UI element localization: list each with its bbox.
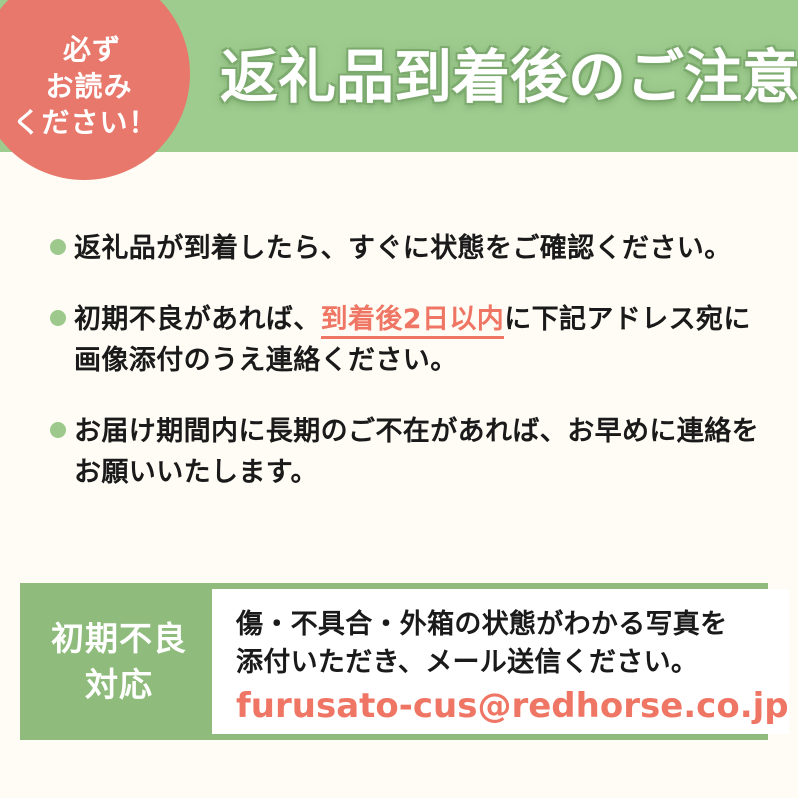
notice-segment: お届け期間内に長期のご不在があれば、お早めに連絡をお願いいたします。 [74, 416, 759, 488]
defect-label: 初期不良 対応 [26, 589, 212, 734]
notice-text-1: 返礼品が到着したら、すぐに状態をご確認ください。 [74, 228, 768, 269]
deadline-highlight: 到着後2日以内 [321, 304, 505, 339]
bullet-dot-icon [50, 310, 66, 326]
badge-line-2: お読み [45, 69, 132, 106]
defect-label-line-2: 対応 [85, 662, 153, 708]
defect-label-line-1: 初期不良 [51, 616, 187, 662]
notice-text-3: お届け期間内に長期のご不在があれば、お早めに連絡をお願いいたします。 [74, 411, 768, 493]
list-item: 初期不良があれば、到着後2日以内に下記アドレス宛に画像添付のうえ連絡ください。 [48, 299, 768, 381]
list-item: お届け期間内に長期のご不在があれば、お早めに連絡をお願いいたします。 [48, 411, 768, 493]
page-title: 返礼品到着後のご注意 [220, 36, 760, 118]
notice-text-2: 初期不良があれば、到着後2日以内に下記アドレス宛に画像添付のうえ連絡ください。 [74, 299, 768, 381]
badge-line-1: 必ず [63, 32, 121, 69]
defect-response-box: 初期不良 対応 傷・不具合・外箱の状態がわかる写真を 添付いただき、メール送信く… [20, 583, 768, 740]
must-read-badge: 必ず お読み ください！ [0, 0, 190, 180]
bullet-dot-icon [50, 422, 66, 438]
defect-body-line-1: 傷・不具合・外箱の状態がわかる写真を [236, 606, 789, 644]
notice-list: 返礼品が到着したら、すぐに状態をご確認ください。 初期不良があれば、到着後2日以… [48, 228, 768, 493]
defect-body-line-2: 添付いただき、メール送信ください。 [236, 644, 789, 682]
bullet-dot-icon [50, 239, 66, 255]
defect-content: 傷・不具合・外箱の状態がわかる写真を 添付いただき、メール送信ください。 fur… [212, 589, 789, 734]
badge-line-3: ください！ [12, 105, 157, 142]
list-item: 返礼品が到着したら、すぐに状態をご確認ください。 [48, 228, 768, 269]
notice-segment: 返礼品が到着したら、すぐに状態をご確認ください。 [74, 233, 732, 264]
contact-email[interactable]: furusato-cus@redhorse.co.jp [236, 686, 789, 727]
notice-segment: 初期不良があれば、 [74, 304, 321, 335]
notice-page: 返礼品到着後のご注意 必ず お読み ください！ 返礼品が到着したら、すぐに状態を… [0, 0, 798, 798]
